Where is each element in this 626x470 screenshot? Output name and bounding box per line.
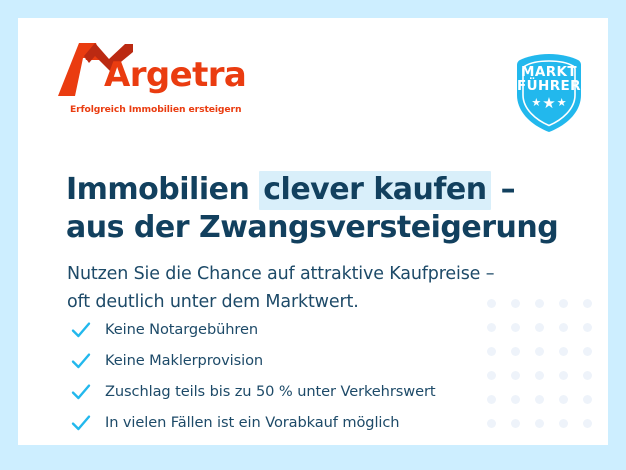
- subheadline-line-2: oft deutlich unter dem Marktwert.: [67, 288, 587, 316]
- list-item: Keine Notargebühren: [70, 314, 540, 345]
- list-item-label: Zuschlag teils bis zu 50 % unter Verkehr…: [105, 383, 435, 400]
- decorative-dot: [559, 371, 568, 380]
- decorative-dot: [559, 419, 568, 428]
- benefits-list: Keine NotargebührenKeine Maklerprovision…: [70, 314, 540, 438]
- list-item-label: In vielen Fällen ist ein Vorabkauf mögli…: [105, 414, 399, 431]
- decorative-dot: [583, 323, 592, 332]
- decorative-dot: [559, 323, 568, 332]
- list-item-label: Keine Maklerprovision: [105, 352, 263, 369]
- check-icon: [70, 350, 105, 372]
- promo-banner: Argetra Erfolgreich Immobilien ersteiger…: [0, 0, 626, 470]
- decorative-dot: [583, 371, 592, 380]
- subheadline-line-1: Nutzen Sie die Chance auf attraktive Kau…: [67, 260, 587, 288]
- headline-highlight: clever kaufen: [259, 171, 490, 210]
- banner-card: Argetra Erfolgreich Immobilien ersteiger…: [18, 18, 608, 445]
- decorative-dot: [583, 419, 592, 428]
- check-icon: [70, 412, 105, 434]
- list-item-label: Keine Notargebühren: [105, 321, 258, 338]
- list-item: Keine Maklerprovision: [70, 345, 540, 376]
- headline-line-1: Immobilien clever kaufen –: [66, 171, 566, 209]
- page-title: Immobilien clever kaufen – aus der Zwang…: [66, 171, 566, 247]
- marktfuehrer-badge: MARKT FÜHRER ★ ★ ★: [507, 51, 591, 135]
- argetra-logo[interactable]: Argetra Erfolgreich Immobilien ersteiger…: [57, 40, 247, 120]
- decorative-dot: [583, 395, 592, 404]
- headline-line-2: aus der Zwangsversteigerung: [66, 209, 566, 247]
- decorative-dot: [583, 347, 592, 356]
- headline-post: –: [491, 172, 515, 207]
- decorative-dot: [559, 395, 568, 404]
- check-icon: [70, 319, 105, 341]
- subheadline: Nutzen Sie die Chance auf attraktive Kau…: [67, 260, 587, 317]
- check-icon: [70, 381, 105, 403]
- list-item: In vielen Fällen ist ein Vorabkauf mögli…: [70, 407, 540, 438]
- decorative-dot: [559, 347, 568, 356]
- headline-pre: Immobilien: [66, 172, 259, 207]
- shield-icon: [507, 51, 591, 135]
- argetra-tagline: Erfolgreich Immobilien ersteigern: [70, 104, 241, 115]
- argetra-wordmark: Argetra: [104, 58, 246, 92]
- list-item: Zuschlag teils bis zu 50 % unter Verkehr…: [70, 376, 540, 407]
